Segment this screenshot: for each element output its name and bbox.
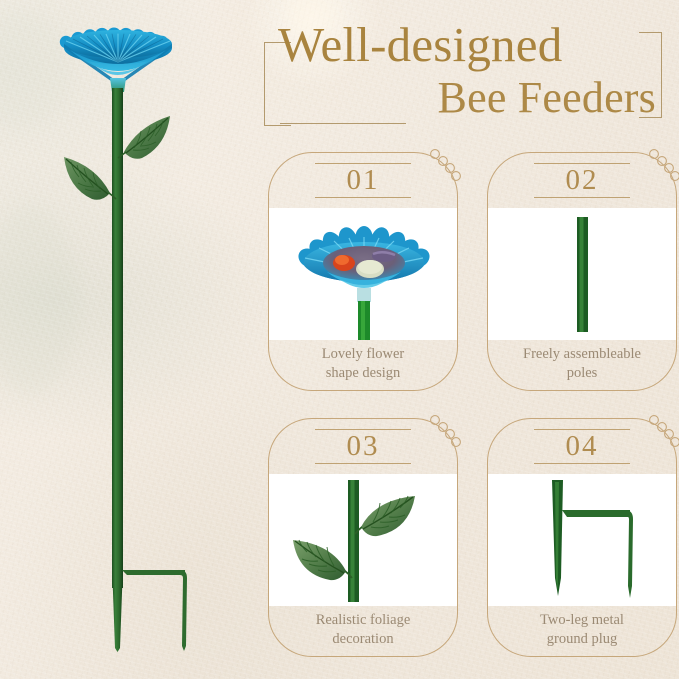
leaf-left bbox=[293, 540, 352, 580]
card-photo-01 bbox=[269, 208, 457, 340]
hero-product-image bbox=[0, 0, 260, 679]
card-photo-03 bbox=[269, 474, 457, 606]
leaf-right bbox=[355, 496, 415, 536]
hero-stem bbox=[112, 88, 123, 588]
card-caption-03: Realistic foliage decoration bbox=[273, 611, 453, 648]
hero-ground-plug bbox=[112, 565, 187, 652]
feature-card-01[interactable]: 01 bbox=[268, 152, 458, 391]
hero-leaf-upper bbox=[118, 116, 170, 159]
page-title-line2: Bee Feeders bbox=[438, 72, 656, 123]
card-caption-02: Freely assembleable poles bbox=[492, 345, 672, 382]
infographic-canvas: Well-designed Bee Feeders bbox=[0, 0, 679, 679]
feature-card-04[interactable]: 04 Two-leg metal ground plug bbox=[487, 418, 677, 657]
hero-flower-head bbox=[60, 28, 172, 93]
card-photo-04 bbox=[488, 474, 676, 606]
card-number-03: 03 bbox=[269, 429, 457, 464]
feature-card-02[interactable]: 02 Freely assembleable poles bbox=[487, 152, 677, 391]
page-title-block: Well-designed Bee Feeders bbox=[264, 22, 662, 134]
card-number-04: 04 bbox=[488, 429, 676, 464]
card-caption-04: Two-leg metal ground plug bbox=[492, 611, 672, 648]
feature-card-03[interactable]: 03 bbox=[268, 418, 458, 657]
page-title-line1: Well-designed bbox=[278, 16, 562, 73]
hero-leaf-lower bbox=[64, 157, 116, 200]
card-caption-01: Lovely flower shape design bbox=[273, 345, 453, 382]
card-number-01: 01 bbox=[269, 163, 457, 198]
title-underline-rule bbox=[280, 123, 406, 124]
card-photo-02 bbox=[488, 208, 676, 340]
card-number-02: 02 bbox=[488, 163, 676, 198]
